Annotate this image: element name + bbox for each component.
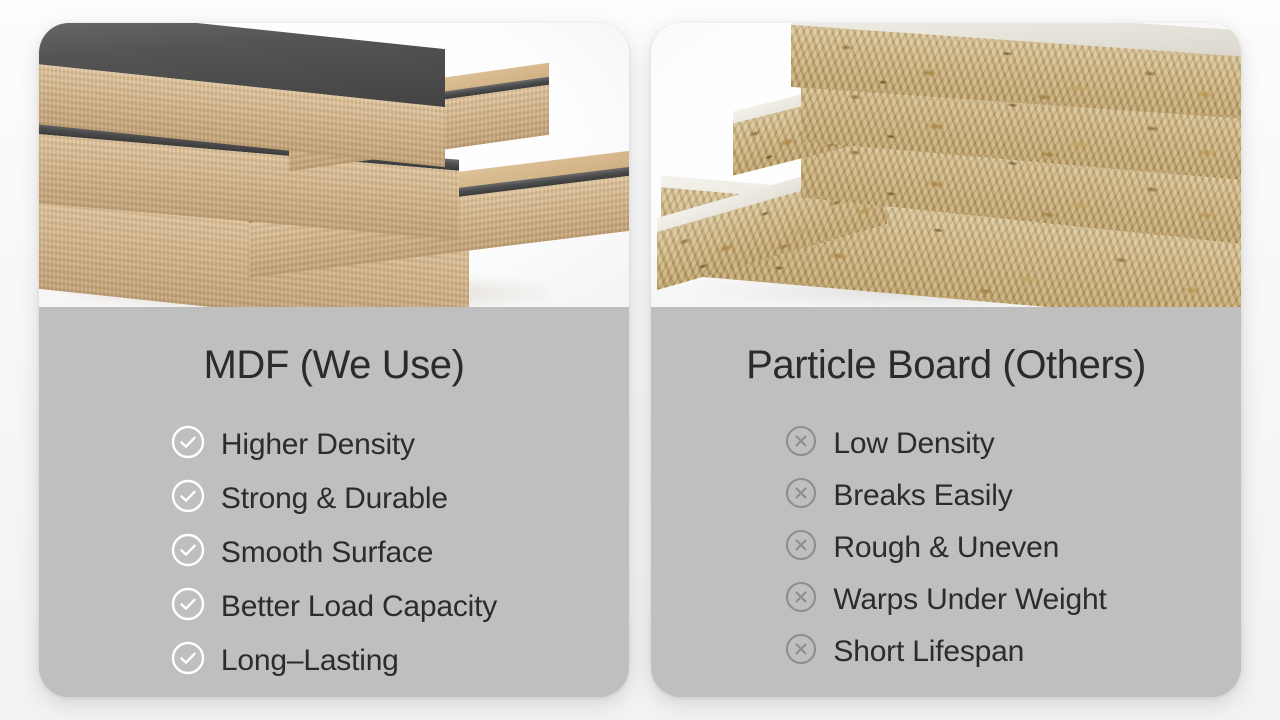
list-item: Warps Under Weight [785, 581, 1106, 618]
mdf-info-panel: MDF (We Use) Higher Density [39, 307, 629, 697]
comparison-card-particle-board: Particle Board (Others) Low Density [651, 23, 1241, 697]
list-item-label: Long–Lasting [221, 645, 399, 677]
list-item: Higher Density [171, 425, 497, 464]
check-circle-icon [171, 425, 205, 464]
list-item-label: Better Load Capacity [221, 591, 497, 623]
list-item-label: Strong & Durable [221, 483, 448, 515]
list-item: Short Lifespan [785, 633, 1106, 670]
list-item: Strong & Durable [171, 479, 497, 518]
page-title-particle-board: Particle Board (Others) [746, 345, 1146, 385]
page-title-mdf: MDF (We Use) [203, 345, 464, 385]
list-item-label: Low Density [833, 428, 994, 460]
check-circle-icon [171, 533, 205, 572]
check-circle-icon [171, 641, 205, 680]
list-item-label: Higher Density [221, 429, 415, 461]
list-item: Breaks Easily [785, 477, 1106, 514]
particle-board-feature-list: Low Density Breaks Easily [785, 425, 1106, 670]
cross-circle-icon [785, 633, 817, 670]
particle-board-info-panel: Particle Board (Others) Low Density [651, 307, 1241, 697]
photo-backdrop [651, 23, 1241, 307]
list-item: Better Load Capacity [171, 587, 497, 626]
mdf-board-photo [39, 23, 629, 307]
list-item-label: Warps Under Weight [833, 584, 1106, 616]
list-item: Smooth Surface [171, 533, 497, 572]
cross-circle-icon [785, 477, 817, 514]
cross-circle-icon [785, 425, 817, 462]
list-item-label: Smooth Surface [221, 537, 433, 569]
product-comparison-infographic: MDF (We Use) Higher Density [0, 0, 1280, 720]
list-item: Low Density [785, 425, 1106, 462]
list-item: Long–Lasting [171, 641, 497, 680]
list-item-label: Short Lifespan [833, 636, 1024, 668]
cross-circle-icon [785, 581, 817, 618]
cross-circle-icon [785, 529, 817, 566]
check-circle-icon [171, 587, 205, 626]
particle-board-photo [651, 23, 1241, 307]
list-item-label: Rough & Uneven [833, 532, 1059, 564]
mdf-feature-list: Higher Density Strong & Durable [171, 425, 497, 680]
list-item: Rough & Uneven [785, 529, 1106, 566]
comparison-card-mdf: MDF (We Use) Higher Density [39, 23, 629, 697]
check-circle-icon [171, 479, 205, 518]
photo-backdrop [39, 23, 629, 307]
list-item-label: Breaks Easily [833, 480, 1012, 512]
